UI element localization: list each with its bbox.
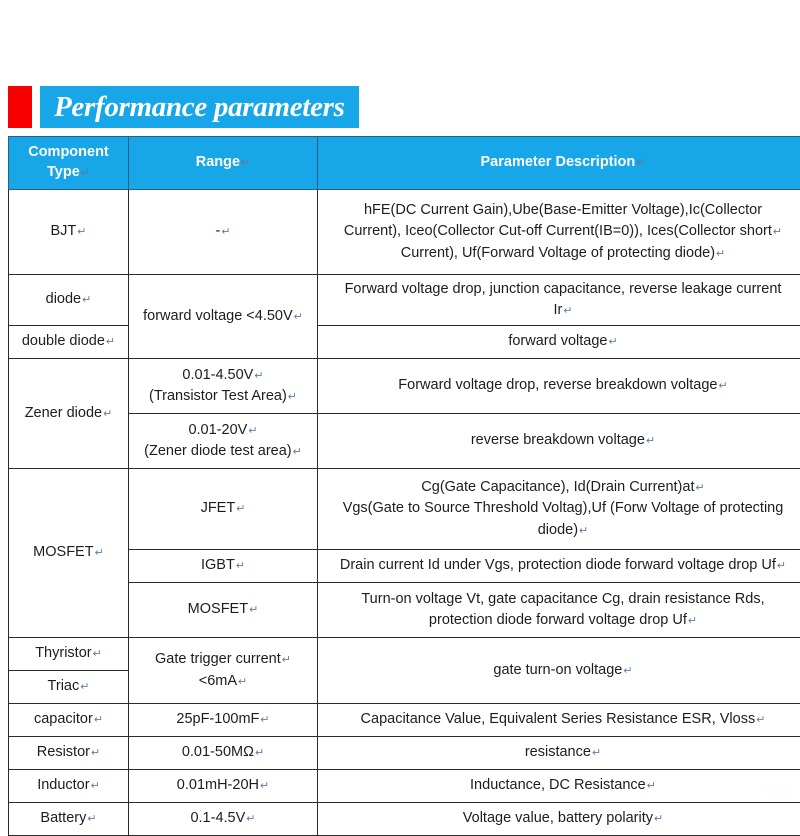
pilcrow-mark: ↵: [607, 336, 617, 348]
description-line: Ir: [553, 302, 562, 318]
cell-range-mosfet: MOSFET↵: [129, 583, 318, 638]
cell-component-inductor: Inductor↵: [9, 770, 129, 803]
description-line: gate turn-on voltage: [493, 662, 622, 678]
range-line: <6mA: [199, 673, 237, 689]
cell-description-igbt: Drain current Id under Vgs, protection d…: [318, 550, 800, 583]
cell-description-double-diode: forward voltage↵: [318, 326, 800, 359]
description-line: Current), Iceo(Collector Cut-off Current…: [344, 223, 772, 239]
description-line: Voltage value, battery polarity: [463, 810, 653, 826]
cell-component-triac: Triac↵: [9, 671, 129, 704]
page-title-bar: Performance parameters: [8, 86, 359, 128]
pilcrow-mark: ↵: [591, 747, 601, 759]
table-row: Inductor↵ 0.01mH-20H↵ Inductance, DC Res…: [9, 770, 800, 803]
component-label: Inductor: [37, 777, 89, 793]
description-line: forward voltage: [508, 333, 607, 349]
cell-range-inductor: 0.01mH-20H↵: [129, 770, 318, 803]
pilcrow-mark: ↵: [635, 157, 645, 169]
cell-component-double-diode: double diode↵: [9, 326, 129, 359]
table-row: MOSFET↵ JFET↵ Cg(Gate Capacitance), Id(D…: [9, 469, 800, 550]
pilcrow-mark: ↵: [776, 560, 786, 572]
range-line: (Transistor Test Area): [149, 388, 287, 404]
description-line: Forward voltage drop, junction capacitan…: [345, 281, 782, 297]
table-row: diode↵ forward voltage <4.50V↵ Forward v…: [9, 275, 800, 326]
description-line: Inductance, DC Resistance: [470, 777, 646, 793]
cell-range-zener-test-area: 0.01-20V↵ (Zener diode test area)↵: [129, 414, 318, 469]
pilcrow-mark: ↵: [86, 813, 96, 825]
column-header-parameter-description-label: Parameter Description: [481, 154, 636, 170]
cell-description-diode: Forward voltage drop, junction capacitan…: [318, 275, 800, 326]
cell-description-zener-1: Forward voltage drop, reverse breakdown …: [318, 359, 800, 414]
pilcrow-mark: ↵: [237, 676, 247, 688]
description-line: Vgs(Gate to Source Threshold Voltag),Uf …: [343, 500, 784, 516]
description-line: hFE(DC Current Gain),Ube(Base-Emitter Vo…: [364, 202, 762, 218]
document-page: Performance parameters Component Type↵ R…: [0, 0, 800, 800]
component-label: diode: [46, 291, 81, 307]
description-line: Cg(Gate Capacitance), Id(Drain Current)a…: [421, 479, 694, 495]
pilcrow-mark: ↵: [245, 813, 255, 825]
component-label: Thyristor: [35, 645, 91, 661]
pilcrow-mark: ↵: [293, 311, 303, 323]
range-line: 0.01-20V: [188, 422, 247, 438]
cell-range-resistor: 0.01-50MΩ↵: [129, 737, 318, 770]
pilcrow-mark: ↵: [259, 714, 269, 726]
description-line: Current), Uf(Forward Voltage of protecti…: [401, 245, 715, 261]
description-line: reverse breakdown voltage: [471, 432, 645, 448]
pilcrow-mark: ↵: [281, 654, 291, 666]
table-row: capacitor↵ 25pF-100mF↵ Capacitance Value…: [9, 704, 800, 737]
cell-description-inductor: Inductance, DC Resistance↵: [318, 770, 800, 803]
range-line: Gate trigger current: [155, 651, 281, 667]
cell-description-bjt: hFE(DC Current Gain),Ube(Base-Emitter Vo…: [318, 190, 800, 275]
description-line: Turn-on voltage Vt, gate capacitance Cg,…: [361, 591, 764, 607]
column-header-component-type-line1: Component: [28, 144, 109, 160]
range-value: 25pF-100mF: [176, 711, 259, 727]
cell-description-battery: Voltage value, battery polarity↵: [318, 803, 800, 836]
pilcrow-mark: ↵: [76, 226, 86, 238]
pilcrow-mark: ↵: [220, 226, 230, 238]
range-value: 0.1-4.5V: [190, 810, 245, 826]
cell-range-battery: 0.1-4.5V↵: [129, 803, 318, 836]
cell-range-zener-transistor-area: 0.01-4.50V↵ (Transistor Test Area)↵: [129, 359, 318, 414]
table-row: Thyristor↵ Gate trigger current↵ <6mA↵ g…: [9, 638, 800, 671]
pilcrow-mark: ↵: [622, 665, 632, 677]
pilcrow-mark: ↵: [645, 435, 655, 447]
cell-component-zener-diode: Zener diode↵: [9, 359, 129, 469]
component-label: Battery: [40, 810, 86, 826]
cell-component-battery: Battery↵: [9, 803, 129, 836]
component-label: MOSFET: [33, 544, 93, 560]
table-header-row: Component Type↵ Range↵ Parameter Descrip…: [9, 137, 800, 190]
cell-description-mosfet: Turn-on voltage Vt, gate capacitance Cg,…: [318, 583, 800, 638]
title-spacer: [32, 86, 40, 128]
pilcrow-mark: ↵: [772, 226, 782, 238]
component-label: Triac: [48, 678, 80, 694]
pilcrow-mark: ↵: [248, 604, 258, 616]
column-header-range: Range↵: [129, 137, 318, 190]
table-row: Battery↵ 0.1-4.5V↵ Voltage value, batter…: [9, 803, 800, 836]
description-line: protection diode forward voltage drop Uf: [429, 612, 687, 628]
parameters-table-wrapper: Component Type↵ Range↵ Parameter Descrip…: [8, 136, 800, 836]
range-value: 0.01-50MΩ: [182, 744, 254, 760]
column-header-parameter-description: Parameter Description↵: [318, 137, 800, 190]
range-value: MOSFET: [188, 601, 248, 617]
cell-description-capacitor: Capacitance Value, Equivalent Series Res…: [318, 704, 800, 737]
pilcrow-mark: ↵: [292, 446, 302, 458]
description-line: Drain current Id under Vgs, protection d…: [340, 557, 776, 573]
component-label: double diode: [22, 333, 105, 349]
description-line: resistance: [525, 744, 591, 760]
description-line: Capacitance Value, Equivalent Series Res…: [361, 711, 756, 727]
pilcrow-mark: ↵: [287, 391, 297, 403]
cell-component-mosfet: MOSFET↵: [9, 469, 129, 638]
range-line: 0.01-4.50V: [182, 367, 253, 383]
watermark: FDBE: [761, 784, 794, 796]
cell-component-bjt: BJT↵: [9, 190, 129, 275]
pilcrow-mark: ↵: [93, 714, 103, 726]
pilcrow-mark: ↵: [254, 747, 264, 759]
cell-range-diode: forward voltage <4.50V↵: [129, 275, 318, 359]
pilcrow-mark: ↵: [694, 482, 704, 494]
cell-component-diode: diode↵: [9, 275, 129, 326]
title-accent-block: [8, 86, 32, 128]
pilcrow-mark: ↵: [81, 294, 91, 306]
pilcrow-mark: ↵: [90, 780, 100, 792]
range-value: forward voltage <4.50V: [143, 308, 293, 324]
pilcrow-mark: ↵: [240, 157, 250, 169]
cell-description-gate-turn-on-voltage: gate turn-on voltage↵: [318, 638, 800, 704]
component-label: Resistor: [37, 744, 90, 760]
pilcrow-mark: ↵: [253, 370, 263, 382]
pilcrow-mark: ↵: [247, 425, 257, 437]
cell-component-capacitor: capacitor↵: [9, 704, 129, 737]
pilcrow-mark: ↵: [578, 525, 588, 537]
pilcrow-mark: ↵: [562, 305, 572, 317]
table-row: double diode↵ forward voltage↵: [9, 326, 800, 359]
cell-description-zener-2: reverse breakdown voltage↵: [318, 414, 800, 469]
cell-range-gate-trigger-current: Gate trigger current↵ <6mA↵: [129, 638, 318, 704]
pilcrow-mark: ↵: [235, 560, 245, 572]
page-title: Performance parameters: [54, 93, 345, 122]
range-value: 0.01mH-20H: [177, 777, 259, 793]
component-label: Zener diode: [25, 405, 102, 421]
pilcrow-mark: ↵: [94, 547, 104, 559]
pilcrow-mark: ↵: [102, 408, 112, 420]
component-label: capacitor: [34, 711, 93, 727]
pilcrow-mark: ↵: [80, 167, 90, 179]
pilcrow-mark: ↵: [79, 681, 89, 693]
table-body: BJT↵ -↵ hFE(DC Current Gain),Ube(Base-Em…: [9, 190, 800, 836]
range-value: IGBT: [201, 557, 235, 573]
pilcrow-mark: ↵: [105, 336, 115, 348]
pilcrow-mark: ↵: [717, 380, 727, 392]
pilcrow-mark: ↵: [92, 648, 102, 660]
range-value: JFET: [201, 500, 236, 516]
description-line: diode): [538, 522, 578, 538]
pilcrow-mark: ↵: [653, 813, 663, 825]
description-line: Forward voltage drop, reverse breakdown …: [398, 377, 717, 393]
cell-component-thyristor: Thyristor↵: [9, 638, 129, 671]
table-row: Zener diode↵ 0.01-4.50V↵ (Transistor Tes…: [9, 359, 800, 414]
column-header-component-type-line2: Type: [47, 164, 80, 180]
pilcrow-mark: ↵: [259, 780, 269, 792]
pilcrow-mark: ↵: [755, 714, 765, 726]
title-banner: Performance parameters: [40, 86, 359, 128]
cell-range-capacitor: 25pF-100mF↵: [129, 704, 318, 737]
cell-component-resistor: Resistor↵: [9, 737, 129, 770]
performance-parameters-table: Component Type↵ Range↵ Parameter Descrip…: [8, 136, 800, 836]
cell-range-igbt: IGBT↵: [129, 550, 318, 583]
cell-description-resistor: resistance↵: [318, 737, 800, 770]
pilcrow-mark: ↵: [90, 747, 100, 759]
cell-range-bjt: -↵: [129, 190, 318, 275]
table-row: Resistor↵ 0.01-50MΩ↵ resistance↵: [9, 737, 800, 770]
pilcrow-mark: ↵: [235, 503, 245, 515]
column-header-component-type: Component Type↵: [9, 137, 129, 190]
pilcrow-mark: ↵: [715, 248, 725, 260]
range-line: (Zener diode test area): [144, 443, 292, 459]
column-header-range-label: Range: [196, 154, 240, 170]
pilcrow-mark: ↵: [646, 780, 656, 792]
cell-range-jfet: JFET↵: [129, 469, 318, 550]
cell-description-jfet: Cg(Gate Capacitance), Id(Drain Current)a…: [318, 469, 800, 550]
component-label: BJT: [51, 223, 77, 239]
table-row: BJT↵ -↵ hFE(DC Current Gain),Ube(Base-Em…: [9, 190, 800, 275]
pilcrow-mark: ↵: [687, 615, 697, 627]
table-header: Component Type↵ Range↵ Parameter Descrip…: [9, 137, 800, 190]
